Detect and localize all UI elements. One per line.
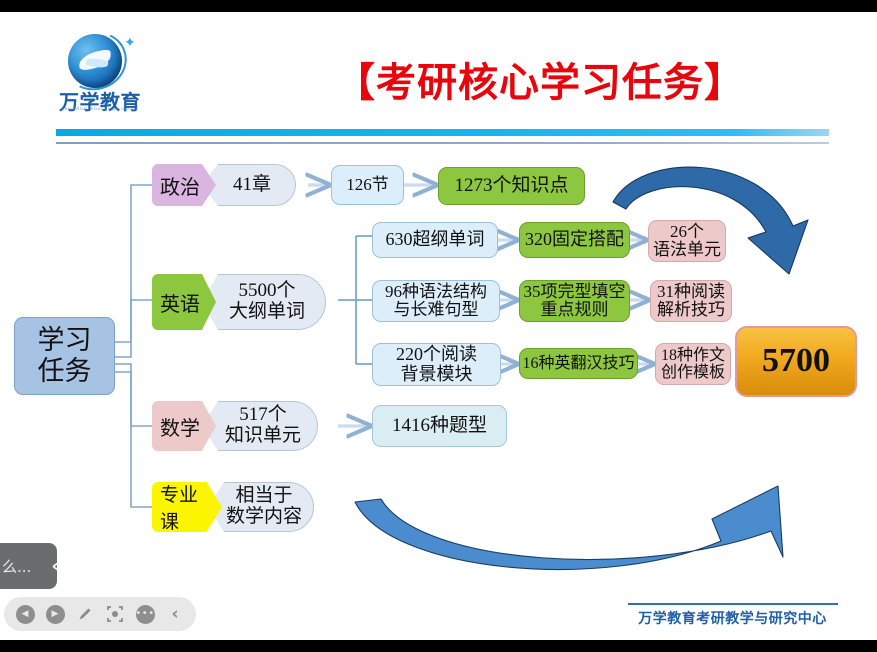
footer-credit: 万学教育考研教学与研究中心 <box>600 608 865 628</box>
branch-politics-summary: 41章 <box>202 164 296 206</box>
previous-slide-button[interactable]: ◀ <box>12 601 38 627</box>
play-forward-icon: ▶ <box>46 605 65 624</box>
bottom-curved-arrow <box>355 486 783 570</box>
screenshot-button[interactable] <box>102 601 128 627</box>
branch-politics-label: 政治 <box>152 164 216 206</box>
node-politics-knowledge-points[interactable]: 1273个知识点 <box>438 167 585 205</box>
more-options-button[interactable]: ••• <box>132 601 158 627</box>
branch-math-summary: 517个 知识单元 <box>202 401 318 451</box>
total-count-badge[interactable]: 5700 <box>735 326 857 397</box>
next-slide-button[interactable]: ▶ <box>42 601 68 627</box>
branch-english[interactable]: 英语 5500个 大纲单词 <box>152 274 326 330</box>
chevron-left-icon: ‹ <box>171 604 178 624</box>
node-english-r3c2[interactable]: 16种英翻汉技巧 <box>519 348 638 379</box>
branch-major[interactable]: 专业课 相当于 数学内容 <box>152 482 314 532</box>
branch-english-label: 英语 <box>152 274 216 330</box>
node-english-r2c2[interactable]: 35项完型填空 重点规则 <box>519 280 630 322</box>
branch-math[interactable]: 数学 517个 知识单元 <box>152 401 318 451</box>
presentation-slide: ✦ 万学教育 UNIVERSAL EDUCATION GROUP 【考研核心学习… <box>0 12 877 640</box>
capture-frame-icon <box>106 605 124 623</box>
overlay-tooltip-text: 么... <box>0 556 31 577</box>
branch-major-summary: 相当于 数学内容 <box>208 482 314 532</box>
center-node[interactable]: 学习 任务 <box>14 317 115 395</box>
screen: ✦ 万学教育 UNIVERSAL EDUCATION GROUP 【考研核心学习… <box>0 0 877 652</box>
node-politics-sections[interactable]: 126节 <box>331 165 404 205</box>
branch-major-label: 专业课 <box>152 482 222 532</box>
pencil-icon <box>76 605 94 623</box>
annotate-pen-button[interactable] <box>72 601 98 627</box>
node-math-question-types[interactable]: 1416种题型 <box>372 405 507 447</box>
node-english-r2c3[interactable]: 31种阅读 解析技巧 <box>650 280 732 322</box>
branch-politics[interactable]: 政治 41章 <box>152 164 296 206</box>
chevron-left-icon[interactable]: ‹ <box>51 555 59 577</box>
node-english-r1c3[interactable]: 26个 语法单元 <box>648 220 726 262</box>
node-english-r2c1[interactable]: 96种语法结构 与长难句型 <box>372 280 500 322</box>
node-english-r3c1[interactable]: 220个阅读 背景模块 <box>372 343 501 386</box>
ellipsis-icon: ••• <box>136 605 155 624</box>
player-toolbar[interactable]: ◀ ▶ ••• ‹ <box>4 597 196 631</box>
footer-divider <box>628 603 838 605</box>
overlay-tooltip[interactable]: 么... ‹ <box>0 543 57 589</box>
collapse-toolbar-button[interactable]: ‹ <box>162 601 188 627</box>
node-english-r1c1[interactable]: 630超纲单词 <box>372 222 498 258</box>
play-back-icon: ◀ <box>16 605 35 624</box>
node-english-r1c2[interactable]: 320固定搭配 <box>519 222 630 258</box>
branch-math-label: 数学 <box>152 401 216 451</box>
branch-english-summary: 5500个 大纲单词 <box>202 274 326 330</box>
node-english-r3c3[interactable]: 18种作文 创作模板 <box>655 343 731 385</box>
